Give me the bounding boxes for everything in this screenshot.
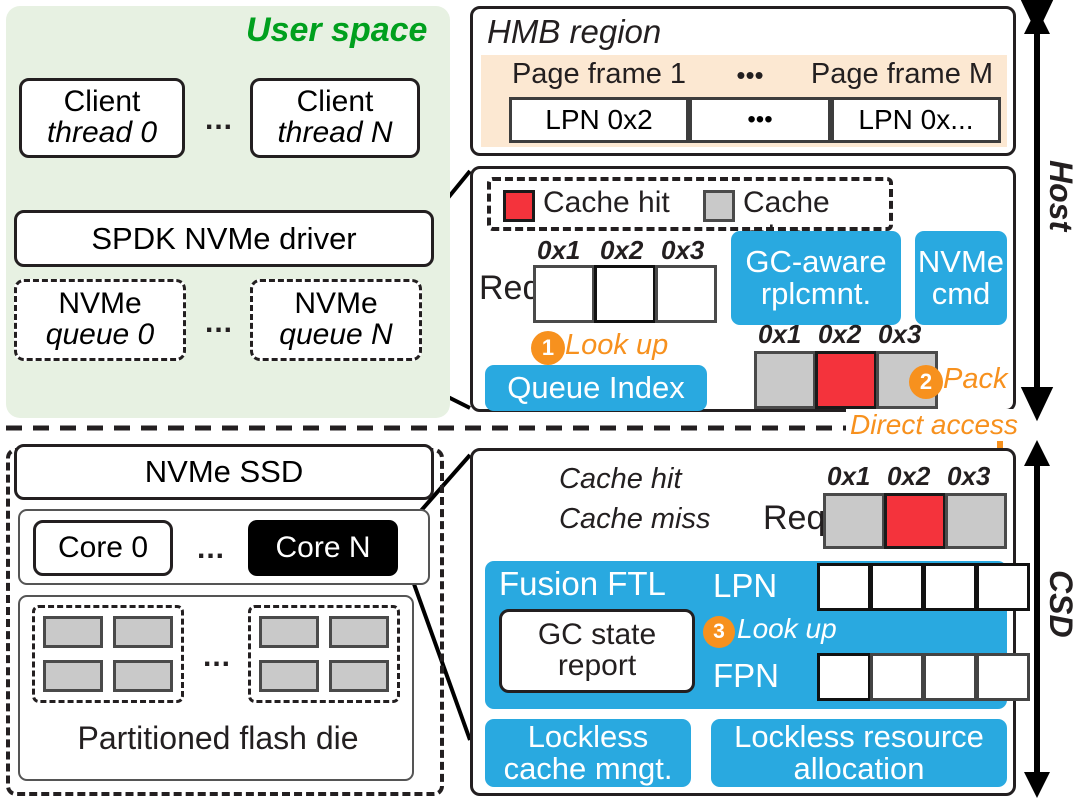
step-2-label: Pack	[943, 363, 1007, 396]
nvme-queue-0-line1: NVMe	[46, 289, 154, 320]
host-req-cell-0[interactable]	[533, 265, 595, 323]
lpn-label: LPN	[713, 567, 777, 605]
hmb-lpn-cell-1[interactable]: LPN 0x2	[509, 97, 689, 143]
lpn-cell[interactable]	[817, 563, 871, 611]
core-container: Core 0 ... Core N	[18, 509, 430, 585]
host-req-addr-2: 0x3	[661, 235, 704, 266]
flash-die	[113, 660, 173, 692]
hmb-frame-ellipsis: •••	[713, 57, 787, 93]
lockless-resource-allocation-module[interactable]: Lockless resource allocation	[711, 719, 1007, 787]
fpn-cell[interactable]	[870, 653, 924, 701]
legend-hit-swatch	[503, 190, 535, 222]
csd-req-addr-2: 0x3	[947, 461, 990, 492]
nvme-cmd-line2: cmd	[918, 278, 1004, 310]
hmb-region: HMB region Page frame 1 ••• Page frame M…	[470, 6, 1016, 156]
gc-aware-replacement-module[interactable]: GC-aware rplcmnt.	[731, 231, 901, 325]
host-side-label: Host	[1042, 160, 1079, 231]
lockless-cache-mngt-module[interactable]: Lockless cache mngt.	[485, 719, 691, 787]
nvme-cmd-line1: NVMe	[918, 246, 1004, 278]
lockless-cache-line1: Lockless	[504, 721, 673, 753]
hmb-page-frame-1: Page frame 1	[489, 57, 709, 93]
host-cache-addr-2: 0x3	[878, 319, 921, 350]
host-cache-addr-1: 0x2	[818, 319, 861, 350]
gc-state-report-line1: GC state	[538, 620, 656, 651]
csd-side-label: CSD	[1042, 570, 1079, 638]
csd-detail-panel: Cache hit Cache miss Req. 0x1 0x2 0x3 Fu…	[470, 448, 1016, 796]
flash-die	[43, 616, 103, 648]
fpn-cell[interactable]	[817, 653, 871, 701]
core-n-label: Core N	[275, 533, 370, 564]
csd-legend-hit-label: Cache hit	[559, 463, 682, 496]
csd-req-cell-0-miss[interactable]	[823, 493, 885, 549]
nvme-queue-ellipsis: ...	[190, 303, 248, 343]
flash-die-container: ... Partitioned flash die	[18, 595, 414, 781]
host-cache-cell-0-miss[interactable]	[754, 351, 816, 409]
nvme-cmd-module[interactable]: NVMe cmd	[915, 231, 1007, 325]
partitioned-flash-die-label: Partitioned flash die	[20, 715, 416, 761]
client-thread-n-line2: thread N	[277, 118, 392, 149]
client-thread-n-line1: Client	[277, 87, 392, 118]
flash-die	[259, 616, 319, 648]
die-group-ellipsis: ...	[188, 641, 246, 673]
hmb-lpn-cell-m[interactable]: LPN 0x...	[831, 97, 1001, 143]
lockless-cache-line2: cache mngt.	[504, 753, 673, 785]
core-n[interactable]: Core N	[248, 520, 398, 576]
die-group-0	[32, 605, 184, 703]
fusion-ftl-panel: Fusion FTL GC state report LPN FPN 3 Loo…	[485, 561, 1007, 709]
host-req-addr-0: 0x1	[537, 235, 580, 266]
lpn-cell[interactable]	[976, 563, 1030, 611]
flash-die	[43, 660, 103, 692]
hmb-page-frame-m: Page frame M	[791, 57, 1013, 93]
host-req-cell-1[interactable]	[594, 265, 656, 323]
spdk-nvme-driver[interactable]: SPDK NVMe driver	[14, 210, 434, 267]
host-cache-addr-0: 0x1	[758, 319, 801, 350]
hmb-title: HMB region	[487, 13, 661, 51]
flash-die	[329, 616, 389, 648]
nvme-queue-0-line2: queue 0	[46, 320, 154, 351]
lockless-resource-line1: Lockless resource	[734, 721, 984, 753]
core-0-label: Core 0	[58, 533, 148, 564]
client-thread-ellipsis: ...	[190, 100, 248, 140]
client-thread-0-line2: thread 0	[47, 118, 157, 149]
lpn-cell[interactable]	[870, 563, 924, 611]
lockless-resource-line2: allocation	[734, 753, 984, 785]
client-thread-0[interactable]: Client thread 0	[19, 78, 185, 158]
step-3-label: Look up	[737, 613, 837, 645]
architecture-diagram: User space Client thread 0 ... Client th…	[0, 0, 1080, 802]
nvme-queue-n-line1: NVMe	[279, 289, 392, 320]
hmb-page-frame-1-label: Page frame 1	[512, 60, 686, 90]
step-3-badge: 3	[703, 616, 735, 648]
fpn-cell[interactable]	[923, 653, 977, 701]
flash-die	[259, 660, 319, 692]
fusion-ftl-title: Fusion FTL	[499, 565, 666, 603]
gc-aware-line1: GC-aware	[745, 246, 886, 278]
gc-aware-line2: rplcmnt.	[745, 278, 886, 310]
step-2-badge: 2	[909, 365, 943, 399]
client-thread-0-line1: Client	[47, 87, 157, 118]
host-req-addr-1: 0x2	[600, 235, 643, 266]
nvme-queue-n-line2: queue N	[279, 320, 392, 351]
core-ellipsis: ...	[182, 533, 240, 565]
nvme-ssd-title[interactable]: NVMe SSD	[14, 444, 434, 500]
csd-req-cell-2-miss[interactable]	[945, 493, 1007, 549]
user-space-label: User space	[246, 11, 442, 53]
gc-state-report[interactable]: GC state report	[499, 609, 695, 693]
die-group-1	[248, 605, 400, 703]
hmb-page-frame-m-label: Page frame M	[811, 60, 993, 90]
csd-legend-miss-label: Cache miss	[559, 503, 711, 536]
queue-index-module[interactable]: Queue Index	[485, 365, 707, 411]
gc-state-report-line2: report	[538, 651, 656, 682]
direct-access-label: Direct access	[846, 409, 1022, 441]
nvme-queue-0[interactable]: NVMe queue 0	[14, 279, 186, 361]
step-1-badge: 1	[531, 331, 565, 365]
host-req-cell-2[interactable]	[655, 265, 717, 323]
csd-req-cell-1-hit[interactable]	[884, 493, 946, 549]
csd-req-addr-0: 0x1	[827, 461, 870, 492]
client-thread-n[interactable]: Client thread N	[250, 78, 420, 158]
lpn-cell[interactable]	[923, 563, 977, 611]
fpn-label: FPN	[713, 657, 779, 695]
flash-die	[113, 616, 173, 648]
host-legend: Cache hit Cache miss	[487, 177, 893, 231]
host-cache-cell-1-hit[interactable]	[815, 351, 877, 409]
host-detail-panel: Cache hit Cache miss Req. 0x1 0x2 0x3 GC…	[470, 166, 1016, 412]
fpn-cell[interactable]	[976, 653, 1030, 701]
hmb-lpn-cell-ellipsis: •••	[689, 97, 831, 143]
csd-req-addr-1: 0x2	[887, 461, 930, 492]
legend-miss-swatch	[703, 190, 735, 222]
nvme-queue-n[interactable]: NVMe queue N	[250, 279, 422, 361]
flash-die	[329, 660, 389, 692]
core-0[interactable]: Core 0	[33, 520, 173, 576]
step-1-label: Look up	[565, 329, 668, 362]
legend-hit-label: Cache hit	[543, 186, 670, 220]
